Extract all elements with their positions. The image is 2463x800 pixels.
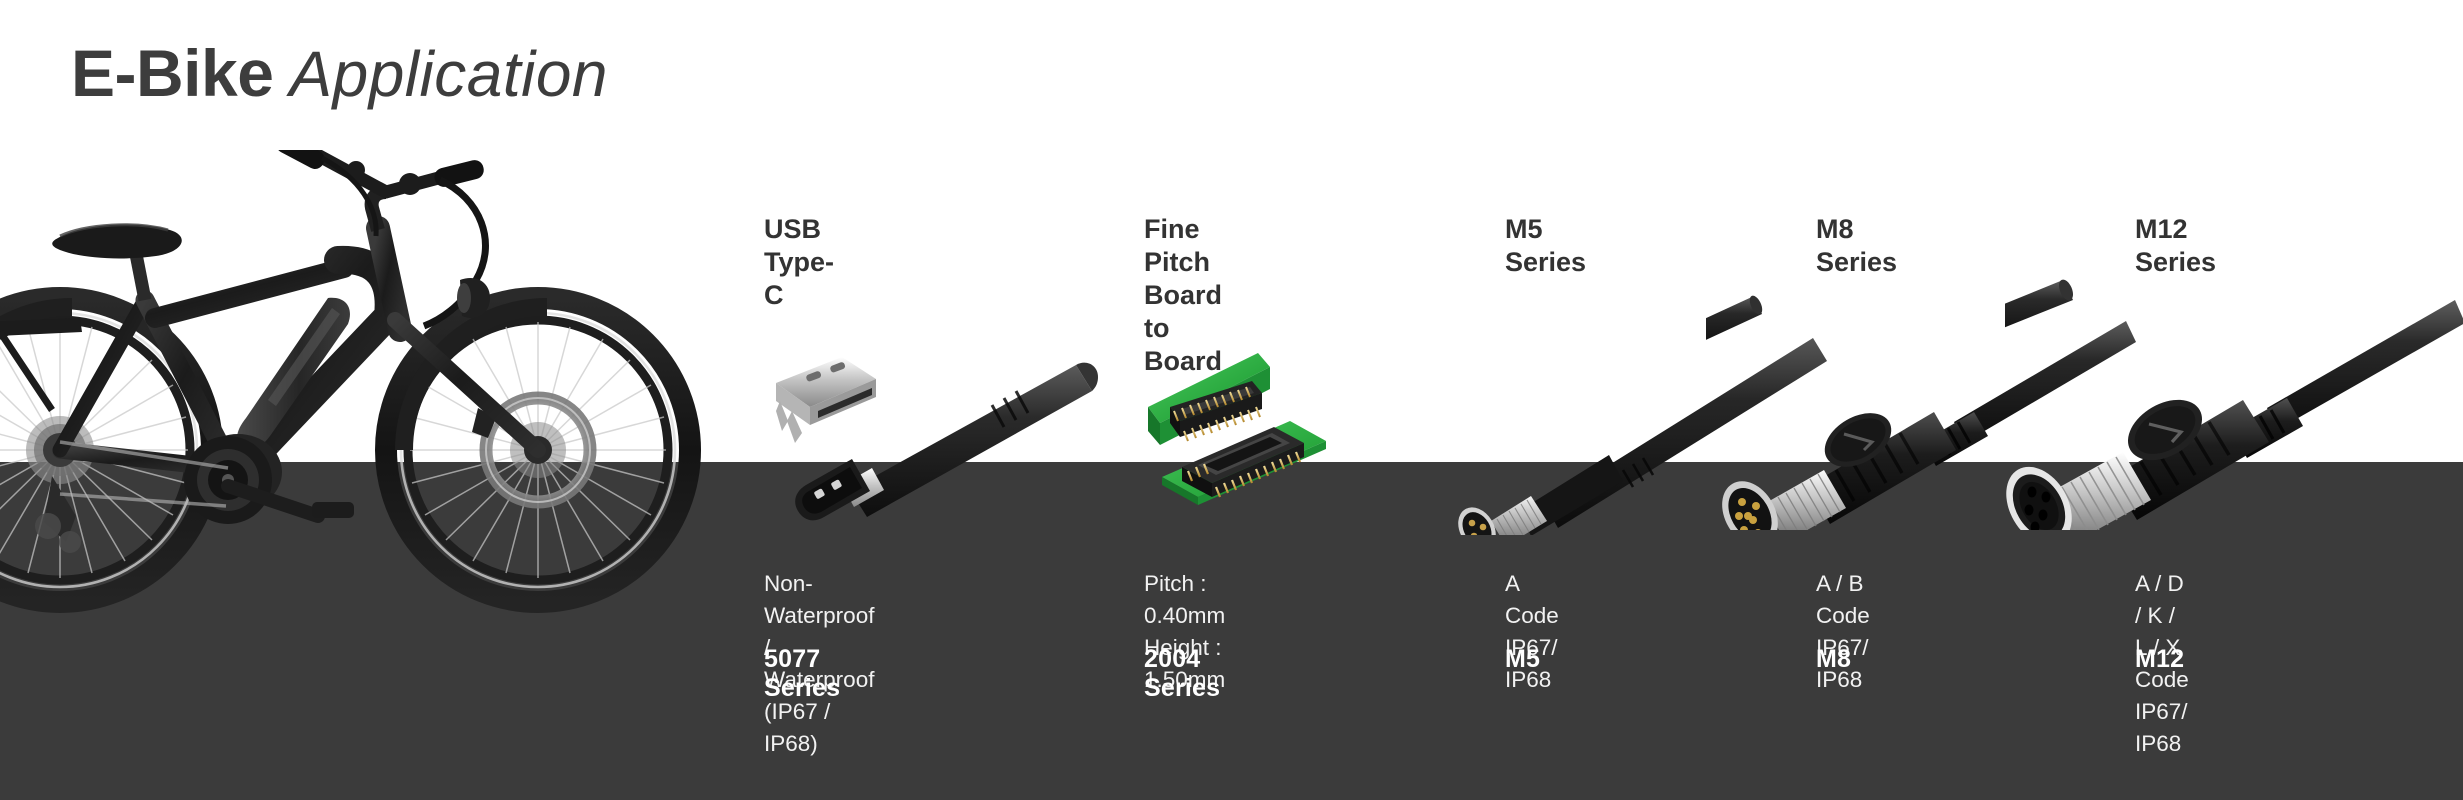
ebike-application-banner: E-BikeApplication xyxy=(0,0,2463,800)
product-series-m5-series: M5 xyxy=(1505,645,1540,674)
rear-rack xyxy=(0,318,82,340)
product-series-m8-series: M8 xyxy=(1816,645,1851,674)
m12-circular-connector-cable-image xyxy=(2005,278,2463,530)
page-title: E-BikeApplication xyxy=(71,40,608,106)
usb-c-receptacle xyxy=(776,357,876,443)
m12-cable xyxy=(2267,300,2463,430)
product-heading-m12-series: M12 Series xyxy=(2135,213,2216,279)
fine-pitch-board-to-board-connector-image xyxy=(1130,345,1370,505)
product-series-m12-series: M12 xyxy=(2135,645,2184,674)
product-caption-m8-series: A / B Code IP67/ IP68 xyxy=(1816,568,1870,696)
mid-drive-motor-and-crank xyxy=(184,434,354,524)
product-heading-m5-series: M5 Series xyxy=(1505,213,1586,279)
product-series-usb-type-c: 5077 Series xyxy=(764,645,840,703)
product-heading-m8-series: M8 Series xyxy=(1816,213,1897,279)
lower-connector xyxy=(1182,427,1304,497)
seat-post xyxy=(136,254,145,300)
page-title-light: Application xyxy=(289,38,608,110)
ebike-photo xyxy=(0,150,740,620)
headlight xyxy=(457,278,490,318)
product-heading-usb-type-c: USB Type-C xyxy=(764,213,834,312)
page-title-bold: E-Bike xyxy=(71,36,273,110)
product-series-fine-pitch-board-to-board: 2004 Series xyxy=(1144,645,1220,703)
product-caption-m5-series: A Code IP67/ IP68 xyxy=(1505,568,1559,696)
usb-type-c-connector-and-cable-image xyxy=(746,335,1166,525)
